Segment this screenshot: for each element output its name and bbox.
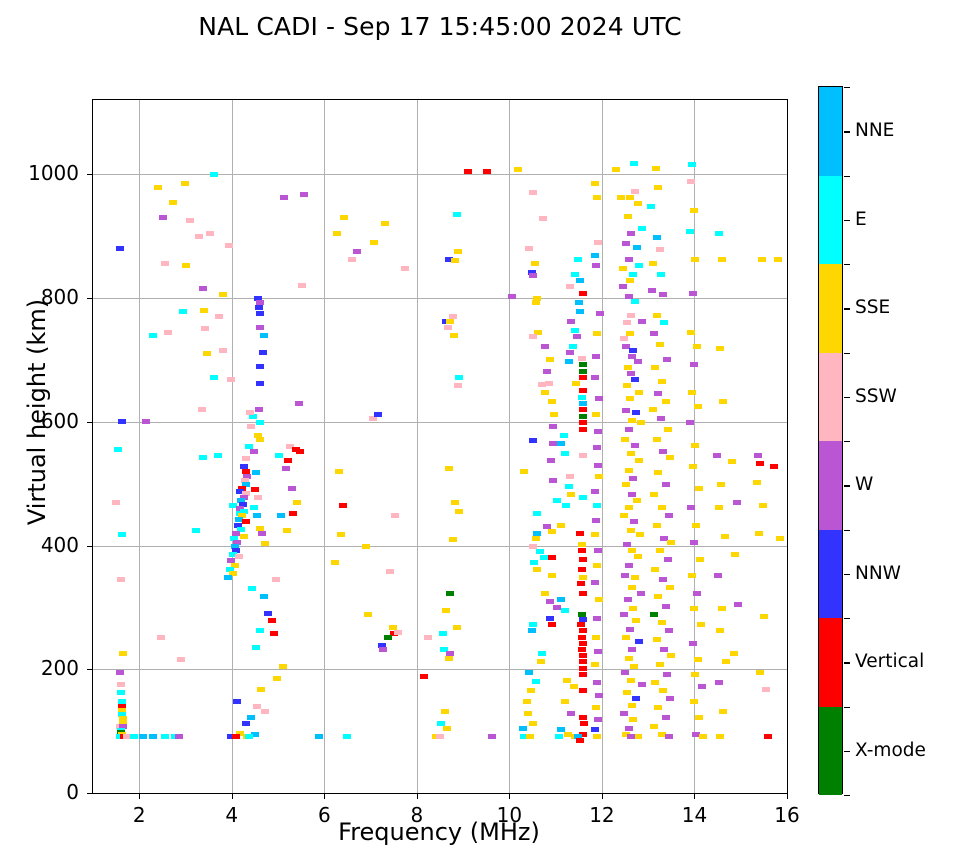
echo-point <box>579 453 587 458</box>
x-gridline <box>602 100 603 793</box>
echo-point <box>629 272 637 277</box>
echo-point <box>252 470 260 475</box>
echo-point <box>593 616 601 621</box>
echo-point <box>298 283 306 288</box>
colorbar-boundary-tick <box>844 795 850 796</box>
echo-point <box>731 552 739 557</box>
echo-point <box>578 567 586 572</box>
echo-point <box>627 678 635 683</box>
echo-point <box>579 715 587 720</box>
echo-point <box>690 606 698 611</box>
echo-point <box>656 342 664 347</box>
echo-point <box>279 664 287 669</box>
echo-point <box>658 505 666 510</box>
echo-point <box>651 567 659 572</box>
echo-point <box>232 734 240 739</box>
echo-point <box>651 365 659 370</box>
echo-point <box>662 715 670 720</box>
echo-point <box>660 320 668 325</box>
echo-point <box>633 498 641 503</box>
echo-point <box>454 383 462 388</box>
echo-point <box>258 531 266 536</box>
echo-point <box>688 573 696 578</box>
echo-point <box>721 534 729 539</box>
echo-point <box>549 424 557 429</box>
echo-point <box>386 569 394 574</box>
colorbar-title: Azimuth Direction <box>953 91 958 511</box>
echo-point <box>289 511 297 516</box>
echo-point <box>625 257 633 262</box>
echo-point <box>659 292 667 297</box>
echo-point <box>657 416 665 421</box>
echo-point <box>626 195 634 200</box>
echo-point <box>565 484 573 489</box>
echo-point <box>593 563 601 568</box>
echo-point <box>116 246 124 251</box>
echo-point <box>570 684 578 689</box>
echo-point <box>653 637 661 642</box>
echo-point <box>730 651 738 656</box>
echo-point <box>579 401 587 406</box>
echo-point <box>593 734 601 739</box>
echo-point <box>718 606 726 611</box>
echo-point <box>632 696 640 701</box>
y-axis-tick <box>87 298 92 299</box>
echo-point <box>659 449 667 454</box>
echo-point <box>364 612 372 617</box>
echo-point <box>381 221 389 226</box>
echo-point <box>621 437 629 442</box>
echo-point <box>636 532 644 537</box>
echo-point <box>628 492 636 497</box>
y-gridline <box>93 546 787 547</box>
echo-point <box>572 381 580 386</box>
echo-point <box>256 364 264 369</box>
echo-point <box>566 284 574 289</box>
echo-point <box>653 313 661 318</box>
echo-point <box>154 185 162 190</box>
colorbar-label-sse: SSE <box>855 297 890 318</box>
echo-point <box>716 346 724 351</box>
echo-point <box>666 585 674 590</box>
echo-point <box>337 532 345 537</box>
y-gridline <box>93 298 787 299</box>
echo-point <box>638 682 646 687</box>
echo-point <box>612 167 620 172</box>
echo-point <box>578 356 586 361</box>
echo-point <box>626 396 634 401</box>
echo-point <box>256 437 264 442</box>
echo-point <box>594 548 602 553</box>
echo-point <box>543 369 551 374</box>
echo-point <box>579 666 587 671</box>
colorbar-segment-nne <box>819 87 842 176</box>
echo-point <box>571 328 579 333</box>
echo-point <box>694 404 702 409</box>
echo-point <box>628 548 636 553</box>
y-tick-label: 1000 <box>0 161 79 185</box>
echo-point <box>635 390 643 395</box>
echo-point <box>203 351 211 356</box>
echo-point <box>571 272 579 277</box>
echo-point <box>256 420 264 425</box>
echo-point <box>579 291 587 296</box>
echo-point <box>622 482 630 487</box>
echo-point <box>201 326 209 331</box>
echo-point <box>623 383 631 388</box>
echo-point <box>260 333 268 338</box>
echo-point <box>634 359 642 364</box>
x-gridline <box>232 100 233 793</box>
echo-point <box>118 532 126 537</box>
echo-point <box>662 604 670 609</box>
echo-point <box>116 670 124 675</box>
echo-point <box>662 399 670 404</box>
echo-point <box>450 333 458 338</box>
echo-point <box>451 258 459 263</box>
echo-point <box>424 635 432 640</box>
echo-point <box>566 474 574 479</box>
echo-point <box>578 647 586 652</box>
echo-point <box>335 469 343 474</box>
y-axis-tick <box>87 669 92 670</box>
echo-point <box>553 498 561 503</box>
echo-point <box>591 727 599 732</box>
echo-point <box>579 375 587 380</box>
echo-point <box>654 185 662 190</box>
echo-point <box>242 519 250 524</box>
echo-point <box>384 635 392 640</box>
echo-point <box>117 682 125 687</box>
echo-point <box>632 410 640 415</box>
echo-point <box>455 509 463 514</box>
echo-point <box>691 443 699 448</box>
colorbar-boundary-tick <box>844 707 850 708</box>
echo-point <box>394 630 402 635</box>
echo-point <box>353 249 361 254</box>
echo-point <box>242 721 250 726</box>
echo-point <box>161 261 169 266</box>
echo-point <box>273 676 281 681</box>
echo-point <box>776 536 784 541</box>
echo-point <box>567 492 575 497</box>
echo-point <box>638 226 646 231</box>
echo-point <box>224 575 232 580</box>
echo-point <box>715 231 723 236</box>
echo-point <box>565 359 573 364</box>
colorbar-tick <box>844 751 850 752</box>
echo-point <box>117 577 125 582</box>
echo-point <box>114 447 122 452</box>
echo-point <box>529 438 537 443</box>
echo-point <box>579 369 587 374</box>
echo-point <box>754 453 762 458</box>
colorbar-segment-vertical <box>819 618 842 707</box>
echo-point <box>540 555 548 560</box>
echo-point <box>200 308 208 313</box>
echo-point <box>579 653 587 658</box>
echo-point <box>625 427 633 432</box>
echo-point <box>277 513 285 518</box>
echo-point <box>246 410 254 415</box>
echo-point <box>620 336 628 341</box>
echo-point <box>759 503 767 508</box>
echo-point <box>288 486 296 491</box>
echo-point <box>529 273 537 278</box>
echo-point <box>579 659 587 664</box>
echo-point <box>717 482 725 487</box>
x-gridline <box>417 100 418 793</box>
echo-point <box>254 495 262 500</box>
plot-area: 24681012141602004006008001000 <box>92 99 788 794</box>
echo-point <box>149 734 157 739</box>
echo-point <box>591 532 599 537</box>
echo-point <box>667 653 675 658</box>
echo-point <box>693 591 701 596</box>
echo-point <box>629 476 637 481</box>
echo-point <box>620 612 628 617</box>
echo-point <box>628 703 636 708</box>
echo-point <box>225 243 233 248</box>
echo-point <box>251 487 259 492</box>
echo-point <box>549 478 557 483</box>
echo-point <box>531 261 539 266</box>
echo-point <box>591 181 599 186</box>
echo-point <box>348 257 356 262</box>
x-gridline <box>324 100 325 793</box>
echo-point <box>464 169 472 174</box>
echo-point <box>532 300 540 305</box>
echo-point <box>362 544 370 549</box>
echo-point <box>219 292 227 297</box>
echo-point <box>261 709 269 714</box>
echo-point <box>300 192 308 197</box>
echo-point <box>177 657 185 662</box>
echo-point <box>697 622 705 627</box>
echo-point <box>595 693 603 698</box>
echo-point <box>214 453 222 458</box>
echo-point <box>529 190 537 195</box>
echo-point <box>656 247 664 252</box>
echo-point <box>665 513 673 518</box>
echo-point <box>282 466 290 471</box>
echo-point <box>157 635 165 640</box>
echo-point <box>579 495 587 500</box>
echo-point <box>688 162 696 167</box>
echo-point <box>619 284 627 289</box>
echo-point <box>629 717 637 722</box>
colorbar-boundary-tick <box>844 176 850 177</box>
echo-point <box>566 350 574 355</box>
echo-point <box>758 257 766 262</box>
echo-point <box>666 696 674 701</box>
echo-point <box>488 734 496 739</box>
echo-point <box>770 464 778 469</box>
echo-point <box>624 214 632 219</box>
y-axis-label: Virtual height (km) <box>23 192 51 632</box>
colorbar-label-nne: NNE <box>855 120 894 141</box>
echo-point <box>454 249 462 254</box>
echo-point <box>379 647 387 652</box>
echo-point <box>247 424 255 429</box>
y-axis-tick <box>87 793 92 794</box>
echo-point <box>594 463 602 468</box>
echo-point <box>650 492 658 497</box>
scatter-canvas <box>93 100 787 793</box>
colorbar-tick <box>844 485 850 486</box>
echo-point <box>579 557 587 562</box>
echo-point <box>446 591 454 596</box>
echo-point <box>548 555 556 560</box>
echo-point <box>659 688 667 693</box>
echo-point <box>536 549 544 554</box>
echo-point <box>117 690 125 695</box>
echo-point <box>343 734 351 739</box>
y-gridline <box>93 669 787 670</box>
echo-point <box>698 684 706 689</box>
echo-point <box>579 362 587 367</box>
echo-point <box>530 560 538 565</box>
echo-point <box>719 709 727 714</box>
echo-point <box>630 161 638 166</box>
echo-point <box>629 606 637 611</box>
echo-point <box>340 215 348 220</box>
x-axis-tick <box>509 794 510 799</box>
echo-point <box>762 687 770 692</box>
echo-point <box>659 577 667 582</box>
echo-point <box>256 381 264 386</box>
echo-point <box>250 449 258 454</box>
echo-point <box>529 622 537 627</box>
echo-point <box>622 241 630 246</box>
echo-point <box>253 513 261 518</box>
echo-point <box>619 266 627 271</box>
echo-point <box>756 670 764 675</box>
echo-point <box>256 311 264 316</box>
echo-point <box>638 319 646 324</box>
echo-point <box>699 734 707 739</box>
colorbar-label-w: W <box>855 474 873 495</box>
echo-point <box>660 647 668 652</box>
echo-point <box>624 365 632 370</box>
echo-point <box>255 407 263 412</box>
echo-point <box>270 631 278 636</box>
echo-point <box>219 348 227 353</box>
echo-point <box>529 721 537 726</box>
echo-point <box>694 657 702 662</box>
echo-point <box>532 679 540 684</box>
echo-point <box>576 738 584 743</box>
echo-point <box>573 334 581 339</box>
echo-point <box>753 480 761 485</box>
echo-point <box>719 399 727 404</box>
x-gridline <box>509 100 510 793</box>
echo-point <box>293 500 301 505</box>
echo-point <box>692 523 700 528</box>
echo-point <box>579 591 587 596</box>
echo-point <box>580 721 588 726</box>
echo-point <box>718 257 726 262</box>
echo-point <box>579 427 587 432</box>
echo-point <box>524 711 532 716</box>
echo-point <box>283 528 291 533</box>
echo-point <box>593 445 601 450</box>
echo-point <box>546 616 554 621</box>
colorbar-tick <box>844 308 850 309</box>
echo-point <box>391 513 399 518</box>
echo-point <box>627 313 635 318</box>
colorbar-boundary-tick <box>844 530 850 531</box>
echo-point <box>186 218 194 223</box>
echo-point <box>629 348 637 353</box>
echo-point <box>545 381 553 386</box>
echo-point <box>420 674 428 679</box>
echo-point <box>451 500 459 505</box>
echo-point <box>620 513 628 518</box>
echo-point <box>441 709 449 714</box>
echo-point <box>637 420 645 425</box>
echo-point <box>549 441 557 446</box>
colorbar-segment-sse <box>819 264 842 353</box>
echo-point <box>662 482 670 487</box>
x-axis-tick <box>232 794 233 799</box>
echo-point <box>647 204 655 209</box>
echo-point <box>686 229 694 234</box>
colorbar-boundary-tick <box>844 87 850 88</box>
echo-point <box>665 628 673 633</box>
echo-point <box>179 309 187 314</box>
echo-point <box>689 291 697 296</box>
echo-point <box>227 377 235 382</box>
echo-point <box>621 573 629 578</box>
echo-point <box>453 212 461 217</box>
echo-point <box>667 540 675 545</box>
echo-point <box>654 470 662 475</box>
echo-point <box>548 622 556 627</box>
echo-point <box>215 314 223 319</box>
echo-point <box>444 325 452 330</box>
y-axis-tick <box>87 422 92 423</box>
x-axis-label: Frequency (MHz) <box>92 818 786 846</box>
echo-point <box>256 325 264 330</box>
colorbar-segment-w <box>819 441 842 530</box>
colorbar-boundary-tick <box>844 353 850 354</box>
echo-point <box>634 554 642 559</box>
ionogram-figure: NAL CADI - Sep 17 15:45:00 2024 UTC 2468… <box>0 0 958 857</box>
echo-point <box>734 602 742 607</box>
echo-point <box>537 659 545 664</box>
echo-point <box>546 357 554 362</box>
echo-point <box>623 690 631 695</box>
echo-point <box>235 554 243 559</box>
echo-point <box>268 618 276 623</box>
echo-point <box>561 451 569 456</box>
echo-point <box>579 414 587 419</box>
echo-point <box>689 464 697 469</box>
echo-point <box>577 581 585 586</box>
colorbar-boundary-tick <box>844 441 850 442</box>
echo-point <box>541 344 549 349</box>
echo-point <box>275 453 283 458</box>
echo-point <box>688 390 696 395</box>
colorbar-segment-nnw <box>819 530 842 619</box>
echo-point <box>252 645 260 650</box>
echo-point <box>532 536 540 541</box>
echo-point <box>339 503 347 508</box>
echo-point <box>650 331 658 336</box>
echo-point <box>695 715 703 720</box>
echo-point <box>206 231 214 236</box>
